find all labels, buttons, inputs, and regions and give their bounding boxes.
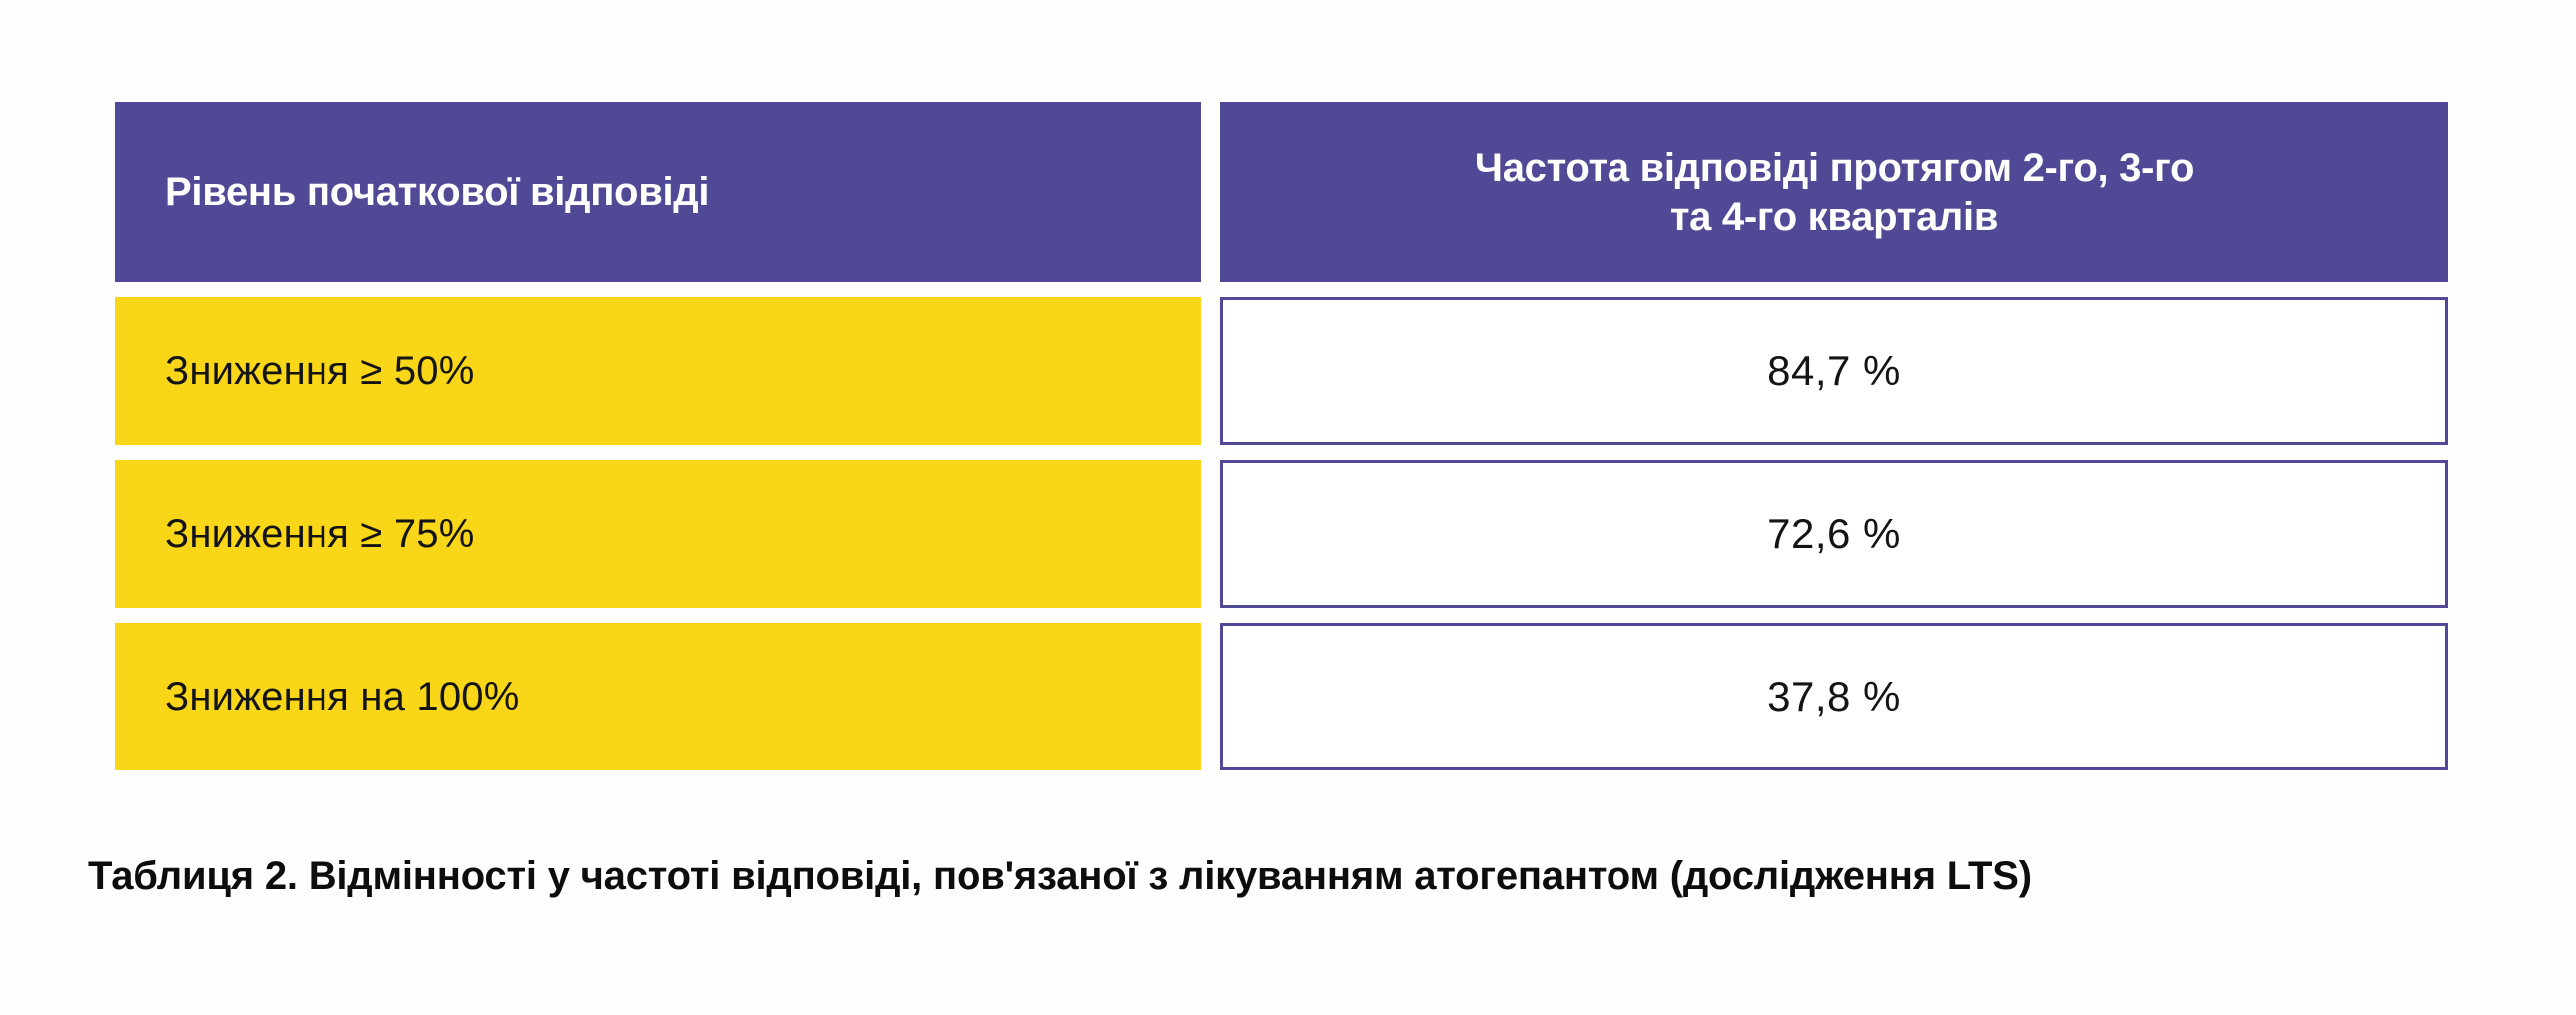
row-value-text: 37,8 % xyxy=(1767,673,1901,721)
header-cell-response-frequency: Частота відповіді протягом 2-го, 3-го та… xyxy=(1220,102,2448,282)
column-gap xyxy=(1201,297,1220,445)
figure-page: Рівень початкової відповіді Частота відп… xyxy=(0,0,2576,1015)
row-label-text: Зниження ≥ 50% xyxy=(165,349,474,394)
row-value-cell: 84,7 % xyxy=(1220,297,2448,445)
row-label-cell: Зниження ≥ 50% xyxy=(115,297,1201,445)
column-gap xyxy=(1201,623,1220,770)
row-label-text: Зниження ≥ 75% xyxy=(165,512,474,557)
row-label-text: Зниження на 100% xyxy=(165,675,520,720)
header-cell-initial-response-level: Рівень початкової відповіді xyxy=(115,102,1201,282)
table-row: Зниження ≥ 75% 72,6 % xyxy=(115,460,2448,608)
table-caption: Таблиця 2. Відмінності у частоті відпові… xyxy=(88,854,2504,899)
column-gap xyxy=(1201,460,1220,608)
row-value-text: 84,7 % xyxy=(1767,347,1901,395)
header-label-column-1: Рівень початкової відповіді xyxy=(165,168,709,217)
table-header-row: Рівень початкової відповіді Частота відп… xyxy=(115,102,2448,282)
header-label-column-2-line-1: Частота відповіді протягом 2-го, 3-го xyxy=(1475,144,2194,193)
row-label-cell: Зниження на 100% xyxy=(115,623,1201,770)
header-label-column-2-line-2: та 4-го кварталів xyxy=(1475,193,2194,242)
header-label-column-2: Частота відповіді протягом 2-го, 3-го та… xyxy=(1475,144,2194,242)
column-gap xyxy=(1201,102,1220,282)
table-row: Зниження на 100% 37,8 % xyxy=(115,623,2448,770)
row-value-cell: 37,8 % xyxy=(1220,623,2448,770)
table-row: Зниження ≥ 50% 84,7 % xyxy=(115,297,2448,445)
row-label-cell: Зниження ≥ 75% xyxy=(115,460,1201,608)
row-value-text: 72,6 % xyxy=(1767,510,1901,558)
response-rate-table: Рівень початкової відповіді Частота відп… xyxy=(115,102,2448,770)
row-value-cell: 72,6 % xyxy=(1220,460,2448,608)
